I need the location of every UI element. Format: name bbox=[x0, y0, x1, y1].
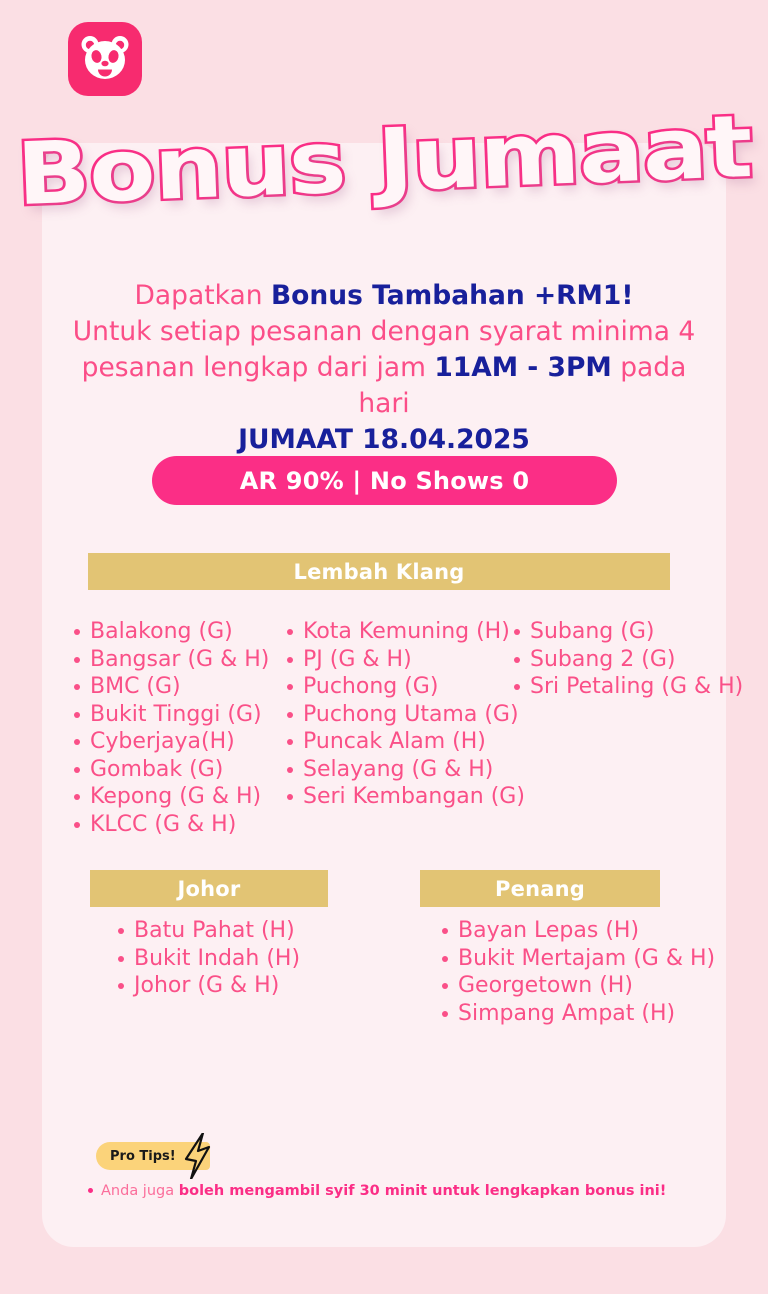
penang-list: Bayan Lepas (H)Bukit Mertajam (G & H)Geo… bbox=[440, 917, 715, 1027]
list-item: BMC (G) bbox=[72, 673, 269, 701]
pro-tips-tag: Pro Tips! bbox=[96, 1142, 210, 1170]
lembah-klang-column-2: Kota Kemuning (H)PJ (G & H)Puchong (G)Pu… bbox=[285, 618, 525, 811]
list-item: Bangsar (G & H) bbox=[72, 646, 269, 674]
bullet-dot-icon bbox=[88, 1188, 93, 1193]
lembah-klang-column-1: Balakong (G)Bangsar (G & H)BMC (G)Bukit … bbox=[72, 618, 269, 838]
list-item: Selayang (G & H) bbox=[285, 756, 525, 784]
copy-line-1: Dapatkan Bonus Tambahan +RM1! bbox=[62, 278, 706, 314]
pro-tips-text-prefix: Anda juga bbox=[101, 1183, 179, 1199]
list-item: Gombak (G) bbox=[72, 756, 269, 784]
johor-list: Batu Pahat (H)Bukit Indah (H)Johor (G & … bbox=[116, 917, 300, 1000]
list-item: Johor (G & H) bbox=[116, 972, 300, 1000]
list-item: Bayan Lepas (H) bbox=[440, 917, 715, 945]
pro-tips-badge: Pro Tips! bbox=[96, 1142, 210, 1170]
copy-line-2: Untuk setiap pesanan dengan syarat minim… bbox=[62, 314, 706, 350]
lightning-bolt-icon bbox=[182, 1133, 212, 1179]
list-item: Balakong (G) bbox=[72, 618, 269, 646]
list-item: Bukit Mertajam (G & H) bbox=[440, 945, 715, 973]
copy-line-1-bold: Bonus Tambahan +RM1! bbox=[271, 280, 634, 311]
list-item: Kepong (G & H) bbox=[72, 783, 269, 811]
criteria-badge: AR 90% | No Shows 0 bbox=[152, 456, 617, 505]
copy-line-1-prefix: Dapatkan bbox=[135, 280, 271, 311]
section-header-johor: Johor bbox=[90, 870, 328, 907]
list-item: PJ (G & H) bbox=[285, 646, 525, 674]
pro-tips-label: Pro Tips! bbox=[110, 1149, 176, 1164]
panda-logo-icon bbox=[77, 31, 133, 87]
list-item: Sri Petaling (G & H) bbox=[512, 673, 743, 701]
list-item: Seri Kembangan (G) bbox=[285, 783, 525, 811]
copy-line-3-bold: 11AM - 3PM bbox=[434, 352, 611, 383]
list-item: Bukit Indah (H) bbox=[116, 945, 300, 973]
list-item: Batu Pahat (H) bbox=[116, 917, 300, 945]
list-item: Simpang Ampat (H) bbox=[440, 1000, 715, 1028]
pro-tips-text-bold: boleh mengambil syif 30 minit untuk leng… bbox=[179, 1183, 667, 1199]
lembah-klang-column-3: Subang (G)Subang 2 (G)Sri Petaling (G & … bbox=[512, 618, 743, 701]
list-item: Georgetown (H) bbox=[440, 972, 715, 1000]
promo-poster: Bonus Jumaat Dapatkan Bonus Tambahan +RM… bbox=[0, 0, 768, 1294]
list-item: Bukit Tinggi (G) bbox=[72, 701, 269, 729]
section-header-lembah-klang: Lembah Klang bbox=[88, 553, 670, 590]
copy-line-3: pesanan lengkap dari jam 11AM - 3PM pada… bbox=[62, 350, 706, 422]
list-item: Kota Kemuning (H) bbox=[285, 618, 525, 646]
list-item: Subang (G) bbox=[512, 618, 743, 646]
promo-description: Dapatkan Bonus Tambahan +RM1! Untuk seti… bbox=[62, 278, 706, 458]
list-item: Puchong Utama (G) bbox=[285, 701, 525, 729]
list-item: Puchong (G) bbox=[285, 673, 525, 701]
list-item: Subang 2 (G) bbox=[512, 646, 743, 674]
pro-tips-text: Anda juga boleh mengambil syif 30 minit … bbox=[88, 1183, 666, 1199]
copy-line-3-prefix: pesanan lengkap dari jam bbox=[82, 352, 435, 383]
list-item: Puncak Alam (H) bbox=[285, 728, 525, 756]
section-header-penang: Penang bbox=[420, 870, 660, 907]
list-item: KLCC (G & H) bbox=[72, 811, 269, 839]
copy-line-4: JUMAAT 18.04.2025 bbox=[62, 422, 706, 458]
list-item: Cyberjaya(H) bbox=[72, 728, 269, 756]
foodpanda-logo bbox=[68, 22, 142, 96]
